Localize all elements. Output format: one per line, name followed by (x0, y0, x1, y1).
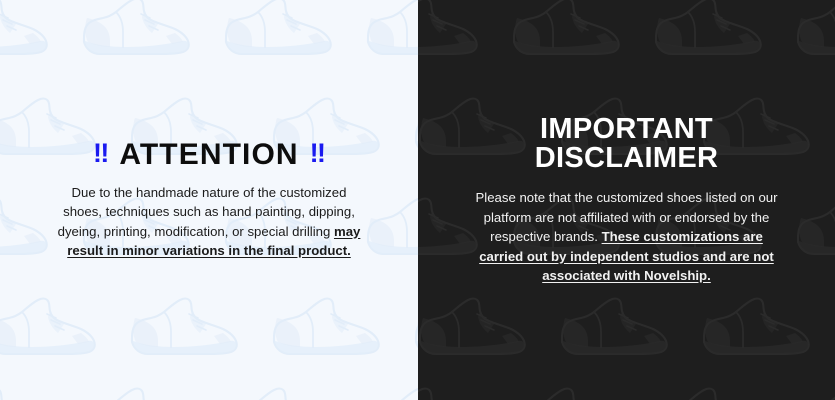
attention-content: ‼ ATTENTION ‼ Due to the handmade nature… (0, 140, 418, 261)
disclaimer-body-text: Please note that the customized shoes li… (467, 188, 787, 285)
double-exclamation-right-icon: ‼ (310, 140, 325, 167)
attention-body-normal: Due to the handmade nature of the custom… (58, 185, 355, 239)
disclaimer-title-line1: IMPORTANT (540, 113, 713, 145)
disclaimer-title-line2: DISCLAIMER (535, 142, 718, 174)
attention-title: ATTENTION (119, 140, 298, 170)
double-exclamation-left-icon: ‼ (93, 140, 108, 167)
attention-body-text: Due to the handmade nature of the custom… (53, 183, 365, 261)
disclaimer-panel: IMPORTANT DISCLAIMER Please note that th… (418, 0, 835, 400)
attention-panel: ‼ ATTENTION ‼ Due to the handmade nature… (0, 0, 418, 400)
disclaimer-title: IMPORTANT DISCLAIMER (432, 115, 821, 175)
disclaimer-content: IMPORTANT DISCLAIMER Please note that th… (418, 115, 835, 286)
dual-notice-banner: ‼ ATTENTION ‼ Due to the handmade nature… (0, 0, 835, 400)
attention-heading: ‼ ATTENTION ‼ (14, 140, 404, 170)
